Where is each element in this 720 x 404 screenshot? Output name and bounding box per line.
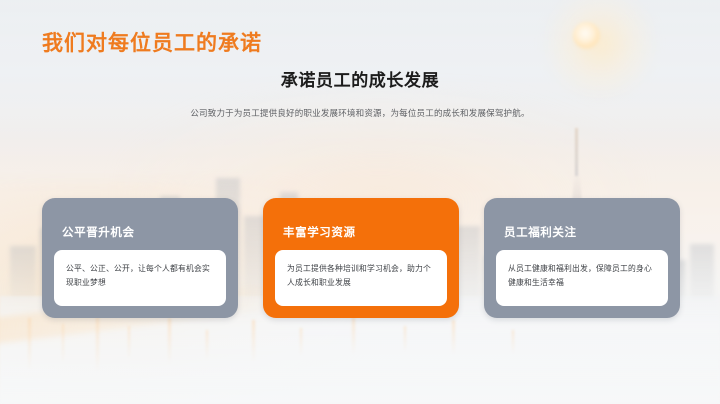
card-list: 公平晋升机会 公平、公正、公开，让每个人都有机会实现职业梦想 丰富学习资源 为员… — [42, 198, 680, 318]
card-body: 从员工健康和福利出发，保障员工的身心健康和生活幸福 — [496, 250, 668, 306]
slide-content: 我们对每位员工的承诺 承诺员工的成长发展 公司致力于为员工提供良好的职业发展环境… — [0, 0, 720, 404]
section-title: 承诺员工的成长发展 — [0, 66, 720, 91]
card-employee-welfare[interactable]: 员工福利关注 从员工健康和福利出发，保障员工的身心健康和生活幸福 — [484, 198, 680, 318]
card-title: 公平晋升机会 — [62, 224, 135, 240]
page-title: 我们对每位员工的承诺 — [42, 27, 262, 57]
slide-root: 我们对每位员工的承诺 承诺员工的成长发展 公司致力于为员工提供良好的职业发展环境… — [0, 0, 720, 404]
section-description: 公司致力于为员工提供良好的职业发展环境和资源，为每位员工的成长和发展保驾护航。 — [0, 107, 720, 119]
card-body: 公平、公正、公开，让每个人都有机会实现职业梦想 — [54, 250, 226, 306]
card-fair-promotion[interactable]: 公平晋升机会 公平、公正、公开，让每个人都有机会实现职业梦想 — [42, 198, 238, 318]
card-title: 员工福利关注 — [504, 224, 577, 240]
card-body: 为员工提供各种培训和学习机会，助力个人成长和职业发展 — [275, 250, 447, 306]
card-title: 丰富学习资源 — [283, 224, 356, 240]
card-learning-resources[interactable]: 丰富学习资源 为员工提供各种培训和学习机会，助力个人成长和职业发展 — [263, 198, 459, 318]
